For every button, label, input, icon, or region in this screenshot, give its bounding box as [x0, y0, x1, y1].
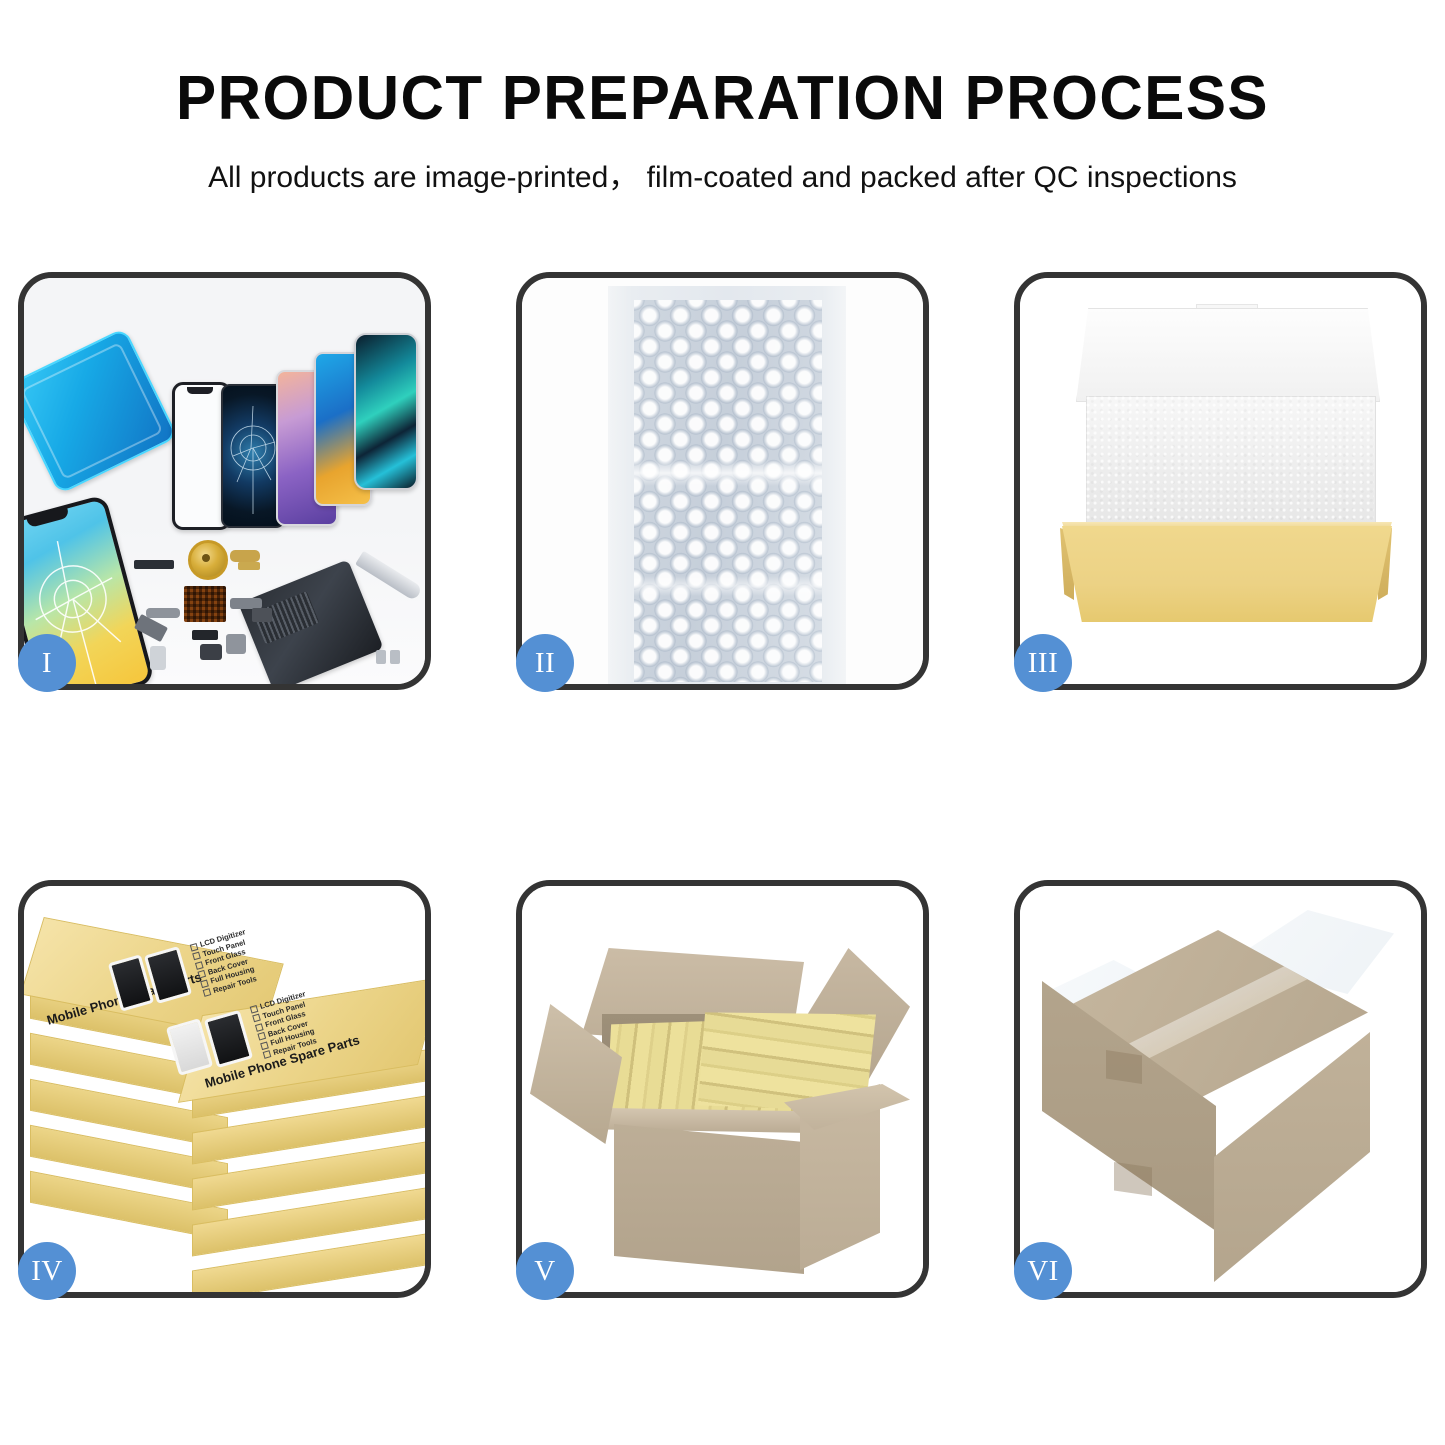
- part-flex-cable-a: [230, 550, 260, 562]
- step-panel-1[interactable]: I: [18, 272, 431, 690]
- chip-array-image: [184, 586, 226, 622]
- process-grid: I II: [0, 272, 1445, 1298]
- step-image-carton-filled: [522, 886, 923, 1292]
- bubble-wrapped-product: [634, 300, 822, 682]
- process-row-top: I II: [0, 272, 1445, 690]
- step-panel-5[interactable]: V: [516, 880, 929, 1298]
- speaker-coil-image: [188, 540, 228, 580]
- step-image-carton-sealed: [1020, 886, 1421, 1292]
- step-badge-2: II: [516, 634, 574, 692]
- step-image-product-parts: [24, 278, 425, 684]
- checkbox-icon: [263, 1051, 272, 1060]
- part-camera: [226, 634, 246, 654]
- part-screw-a: [376, 650, 386, 664]
- bubble-pattern: [634, 300, 822, 682]
- sealed-carton-tab-a: [1106, 1050, 1142, 1084]
- step-panel-2[interactable]: II: [516, 272, 929, 690]
- part-sim-tray: [150, 646, 166, 670]
- crack-icon: [223, 386, 283, 526]
- step-badge-1: I: [18, 634, 76, 692]
- part-flex-cable-c: [146, 608, 180, 618]
- page-header: PRODUCT PREPARATION PROCESS All products…: [0, 0, 1445, 196]
- phone-back-housing-image: [24, 327, 178, 495]
- part-module-b: [200, 644, 222, 660]
- mailer-front-panel: [1062, 526, 1392, 622]
- process-row-bottom: Mobile Phone Spare Parts LCD Digitizer T…: [0, 880, 1445, 1298]
- part-module-a: [192, 630, 218, 640]
- step-badge-3: III: [1014, 634, 1072, 692]
- part-connector: [252, 608, 272, 622]
- step-image-bubble-wrap: [522, 278, 923, 684]
- phone-teal-screen-image: [354, 333, 418, 490]
- step-panel-4[interactable]: Mobile Phone Spare Parts LCD Digitizer T…: [18, 880, 431, 1298]
- box-stack: Mobile Phone Spare Parts LCD Digitizer T…: [24, 886, 425, 1292]
- step-panel-3[interactable]: III: [1014, 272, 1427, 690]
- step-badge-6: VI: [1014, 1242, 1072, 1300]
- part-earpiece: [134, 560, 174, 569]
- page-title: PRODUCT PREPARATION PROCESS: [22, 68, 1424, 130]
- wrap-highlight-b: [634, 576, 822, 596]
- wrap-highlight-a: [634, 460, 822, 486]
- carton-front-face: [614, 1124, 804, 1274]
- sealed-carton-tab-b: [1114, 1162, 1152, 1196]
- step-image-inner-box: [1020, 278, 1421, 684]
- step-image-boxes-stacked: Mobile Phone Spare Parts LCD Digitizer T…: [24, 886, 425, 1292]
- tweezers-tool-image: [355, 551, 423, 602]
- step-badge-5: V: [516, 1242, 574, 1300]
- step-badge-4: IV: [18, 1242, 76, 1300]
- checkbox-icon: [203, 989, 212, 998]
- part-screw-b: [390, 650, 400, 664]
- mailer-foam-liner: [1086, 396, 1374, 532]
- mailer-lid: [1076, 308, 1380, 402]
- page-subtitle: All products are image-printed， film-coa…: [0, 152, 1445, 196]
- step-panel-6[interactable]: VI: [1014, 880, 1427, 1298]
- part-flex-cable-b: [238, 562, 260, 570]
